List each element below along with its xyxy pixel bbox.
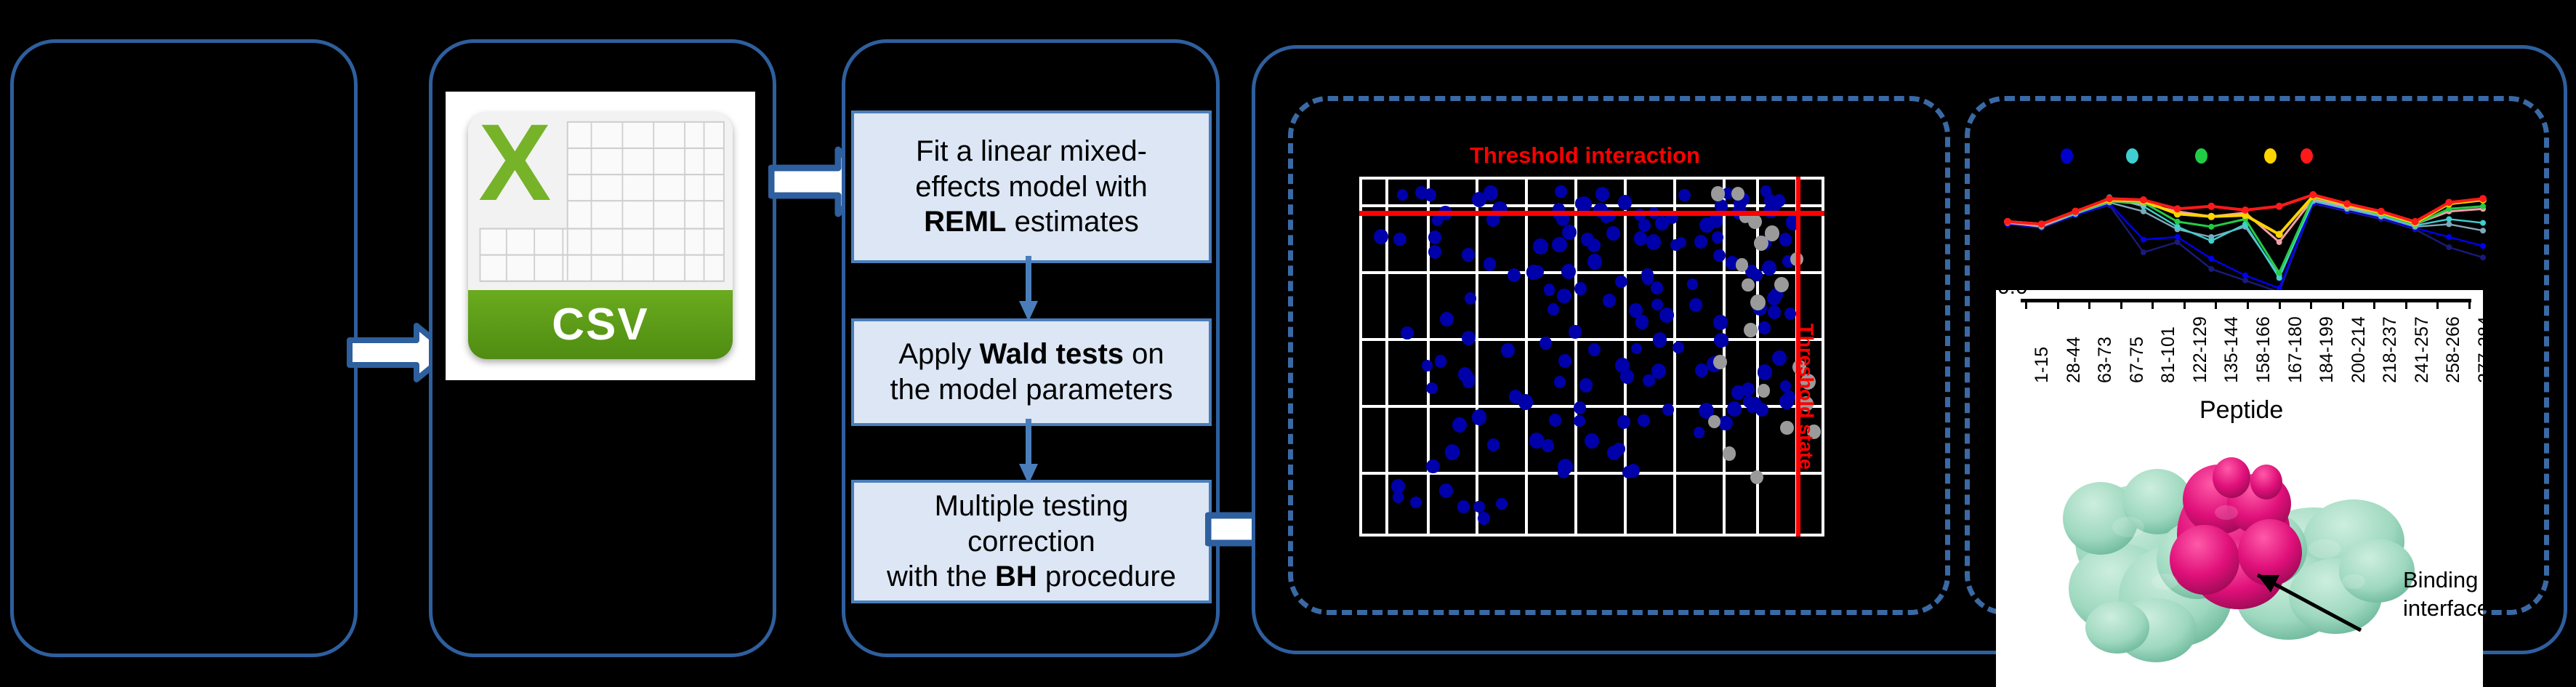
series-marker <box>2106 195 2113 202</box>
scatter-point <box>1501 343 1515 358</box>
scatter-point <box>1428 230 1441 244</box>
scatter-point <box>1617 415 1630 429</box>
scatter-point <box>1561 264 1576 279</box>
x-axis-tick-label: 200-214 <box>2348 316 2370 383</box>
series-marker <box>2277 275 2282 281</box>
protein-structure-image <box>2048 433 2426 672</box>
series-marker <box>2480 228 2486 233</box>
series-marker <box>2276 231 2283 238</box>
scatter-point <box>1487 438 1500 451</box>
scatter-point <box>1710 214 1723 229</box>
scatter-point <box>1574 401 1586 414</box>
series-marker <box>2141 209 2146 214</box>
scatter-point <box>1533 238 1547 254</box>
scatter-point <box>1462 376 1474 388</box>
x-axis-label: Peptide <box>2199 396 2283 425</box>
series-marker <box>2072 208 2079 215</box>
scatter-point <box>1643 374 1655 387</box>
scatter-point <box>1555 185 1567 198</box>
legend-dot <box>2195 148 2207 164</box>
csv-band-text: CSV <box>552 299 648 350</box>
scatter-point <box>1750 470 1763 484</box>
series-marker <box>2208 266 2214 272</box>
scatter-point <box>1758 321 1771 334</box>
scatter-point <box>1435 355 1447 367</box>
scatter-point <box>1445 444 1460 459</box>
excel-x-letter: X <box>478 113 551 217</box>
x-axis-tick-label: 218-237 <box>2380 316 2401 383</box>
series-marker <box>2445 199 2452 206</box>
scatter-point <box>1393 491 1404 503</box>
x-axis-tick-label: 1-15 <box>2032 347 2053 383</box>
scatter-point <box>1713 315 1728 330</box>
scatter-point <box>1653 332 1667 347</box>
series-marker <box>2038 220 2045 228</box>
scatter-point <box>1440 312 1454 326</box>
x-axis-tick-label: 158-166 <box>2253 316 2274 383</box>
scatter-point <box>1393 233 1406 246</box>
scatter-point <box>1659 308 1674 323</box>
scatter-point <box>1774 277 1790 293</box>
scatter-point <box>1542 439 1554 452</box>
process-box-multiple-testing-text: Multiple testingcorrectionwith the BH pr… <box>881 489 1182 595</box>
scatter-point <box>1638 414 1650 427</box>
legend-dot <box>2061 148 2073 164</box>
series-marker <box>2480 220 2486 226</box>
scatter-point <box>1484 257 1497 271</box>
scatter-point <box>1552 237 1567 253</box>
scatter-point <box>1634 231 1648 246</box>
scatter-point <box>1426 382 1437 394</box>
y-axis-zero-label: 0.0 <box>1997 275 2028 300</box>
legend-dot <box>2301 148 2313 164</box>
series-marker <box>2175 239 2181 245</box>
series-marker <box>2480 254 2486 260</box>
series-marker <box>2140 196 2147 204</box>
scatter-point <box>1750 294 1766 310</box>
scatter-point <box>1689 298 1702 312</box>
series-marker <box>2175 234 2181 240</box>
series-marker <box>2277 270 2282 276</box>
scatter-point <box>1579 378 1593 393</box>
connector-fit-to-wald <box>1018 256 1039 323</box>
peptide-line-chart <box>1992 145 2493 305</box>
scatter-point <box>1465 292 1476 305</box>
process-box-wald-tests[interactable]: Apply Wald tests onthe model parameters <box>851 318 1212 426</box>
scatter-point <box>1736 258 1749 272</box>
scatter-point <box>1401 326 1414 340</box>
scatter-point <box>1766 196 1782 212</box>
scatter-point <box>1585 433 1599 449</box>
scatter-point <box>1762 260 1776 276</box>
scatter-point <box>1713 249 1726 262</box>
scatter-point <box>1711 186 1726 201</box>
scatter-point <box>1462 331 1476 345</box>
scatter-point <box>1496 498 1508 510</box>
threshold-scatter-plot: Threshold interaction <box>1359 138 1933 560</box>
scatter-point <box>1713 355 1727 369</box>
scatter-point <box>1772 350 1787 366</box>
series-marker <box>2242 278 2248 284</box>
threshold-interaction-label: Threshold interaction <box>1470 142 1700 169</box>
series-marker <box>2141 237 2146 243</box>
scatter-point <box>1723 446 1736 460</box>
scatter-point <box>1473 501 1485 513</box>
scatter-point <box>1651 299 1663 310</box>
scatter-point <box>1694 235 1707 249</box>
scatter-point <box>1472 409 1486 425</box>
panel-input-data <box>10 39 358 657</box>
x-axis-tick-label: 63-73 <box>2095 337 2116 383</box>
scatter-point <box>1397 189 1408 201</box>
scatter-point <box>1631 343 1642 355</box>
series-marker <box>2174 205 2181 212</box>
scatter-point <box>1651 281 1663 294</box>
scatter-point <box>1678 189 1691 201</box>
series-marker <box>2004 218 2011 225</box>
series-marker <box>2412 218 2419 225</box>
chart-legend <box>1992 145 2493 167</box>
scatter-point <box>1780 421 1794 435</box>
scatter-point <box>1484 185 1498 201</box>
series-marker <box>2276 203 2283 210</box>
scatter-point <box>1708 415 1720 428</box>
scatter-point <box>1558 354 1571 368</box>
scatter-point <box>1694 427 1704 438</box>
scatter-point <box>1439 483 1454 498</box>
series-marker <box>2446 234 2452 240</box>
scatter-point <box>1422 360 1433 371</box>
x-axis-tick-label: 67-75 <box>2127 337 2148 383</box>
process-box-wald-tests-text: Apply Wald tests onthe model parameters <box>884 337 1178 408</box>
scatter-point <box>1574 415 1585 427</box>
scatter-points-layer <box>1359 177 1824 537</box>
flowchart-canvas: X CSV Fit a linear mixed-effects model w… <box>0 0 2576 687</box>
scatter-plot-area <box>1359 177 1824 537</box>
series-marker <box>2277 239 2282 245</box>
scatter-point <box>1731 187 1744 201</box>
scatter-point <box>1758 384 1771 398</box>
threshold-state-label: Threshold state <box>1795 324 1817 470</box>
scatter-point <box>1768 305 1781 319</box>
scatter-point <box>1751 269 1763 281</box>
x-axis-tick-label: 135-144 <box>2221 316 2242 383</box>
series-marker <box>2242 206 2249 214</box>
scatter-point <box>1558 459 1573 475</box>
series-marker <box>2343 200 2351 207</box>
scatter-point <box>1452 417 1467 433</box>
scatter-point <box>1687 278 1698 290</box>
series-marker <box>2446 221 2452 227</box>
x-axis-tick-label: 122-129 <box>2190 316 2211 383</box>
series-marker <box>2480 243 2486 249</box>
binding-annotation-line2: interface <box>2403 595 2490 621</box>
scatter-point <box>1544 284 1555 296</box>
scatter-point <box>1607 446 1621 460</box>
series-marker <box>2479 195 2487 202</box>
series-marker <box>2378 208 2385 215</box>
legend-dot <box>2126 148 2138 164</box>
x-axis-tick-label: 167-180 <box>2285 316 2306 383</box>
scatter-point <box>1457 500 1469 513</box>
scatter-point <box>1410 497 1421 508</box>
scatter-point <box>1595 187 1609 201</box>
scatter-point <box>1646 234 1662 250</box>
series-marker <box>2446 216 2452 222</box>
process-box-multiple-testing[interactable]: Multiple testingcorrectionwith the BH pr… <box>851 480 1212 603</box>
scatter-point <box>1784 308 1796 320</box>
x-axis-tick-label: 277-284 <box>2475 316 2496 383</box>
scatter-point <box>1727 401 1742 417</box>
scatter-point <box>1618 195 1633 210</box>
scatter-point <box>1426 459 1440 474</box>
x-axis-tick-label: 184-199 <box>2317 316 2338 383</box>
legend-dot <box>2264 148 2277 164</box>
scatter-point <box>1574 282 1587 295</box>
scatter-point <box>1549 414 1561 427</box>
peptide-series-svg <box>1992 167 2493 305</box>
scatter-point <box>1462 248 1475 262</box>
x-axis-tick-label: 81-101 <box>2158 326 2179 383</box>
threshold-interaction-line <box>1359 211 1824 216</box>
scatter-point <box>1742 382 1755 397</box>
scatter-point <box>1615 276 1627 289</box>
scatter-point <box>1562 225 1577 241</box>
series-marker <box>2208 224 2214 230</box>
peptide-axis-and-structure-card: 1-1528-4463-7367-7581-101122-129135-1441… <box>1996 290 2483 687</box>
x-axis-tick-label: 241-257 <box>2412 316 2433 383</box>
scatter-point <box>1779 233 1792 246</box>
series-marker <box>2480 204 2486 209</box>
x-axis-tick-label: 258-266 <box>2443 316 2464 383</box>
scatter-point <box>1744 323 1758 338</box>
scatter-point <box>1374 229 1389 245</box>
series-marker <box>2175 224 2181 230</box>
scatter-point <box>1531 265 1544 278</box>
scatter-point <box>1554 376 1566 388</box>
scatter-point <box>1743 395 1755 408</box>
scatter-point <box>1673 342 1684 353</box>
binding-annotation-line1: Binding <box>2403 567 2478 592</box>
connector-wald-to-bh <box>1018 419 1039 486</box>
series-marker <box>2175 219 2181 225</box>
series-marker <box>2208 256 2214 262</box>
csv-file-icon: X CSV <box>446 92 754 379</box>
scatter-point <box>1606 226 1620 241</box>
csv-label-band: CSV <box>468 290 733 359</box>
series-marker <box>2446 244 2452 250</box>
process-box-fit-model-text: Fit a linear mixed-effects model withREM… <box>909 134 1153 240</box>
binding-interface-annotation: Binding interface <box>2403 566 2490 623</box>
series-marker <box>2207 213 2215 220</box>
x-axis-tick-labels: 1-1528-4463-7367-7581-101122-129135-1441… <box>1996 290 2483 392</box>
scatter-point <box>1758 364 1773 380</box>
series-marker <box>2207 203 2215 210</box>
scatter-point <box>1557 289 1571 304</box>
scatter-point <box>1603 294 1616 308</box>
series-marker <box>2208 238 2214 244</box>
scatter-point <box>1518 394 1534 410</box>
scatter-point <box>1675 237 1686 249</box>
scatter-point <box>1712 231 1723 244</box>
scatter-point <box>1588 343 1601 356</box>
scatter-point <box>1428 245 1441 259</box>
scatter-point <box>1714 333 1728 348</box>
scatter-point <box>1575 197 1587 209</box>
scatter-point <box>1508 268 1521 283</box>
scatter-point <box>1569 325 1581 338</box>
series-marker <box>2141 249 2146 255</box>
scatter-point <box>1539 337 1552 350</box>
scatter-point <box>1622 466 1634 478</box>
scatter-point <box>1755 403 1769 417</box>
scatter-point <box>1662 403 1674 416</box>
series-marker <box>2242 273 2248 278</box>
scatter-point <box>1547 303 1560 316</box>
x-axis-tick-label: 28-44 <box>2064 337 2085 383</box>
scatter-point <box>1587 238 1601 252</box>
scatter-point <box>1742 278 1755 292</box>
series-marker <box>2309 191 2317 198</box>
scatter-point <box>1718 416 1733 431</box>
process-box-fit-model[interactable]: Fit a linear mixed-effects model withREM… <box>851 111 1212 263</box>
scatter-point <box>1754 236 1768 251</box>
scatter-point <box>1587 254 1602 269</box>
scatter-point <box>1478 512 1490 525</box>
